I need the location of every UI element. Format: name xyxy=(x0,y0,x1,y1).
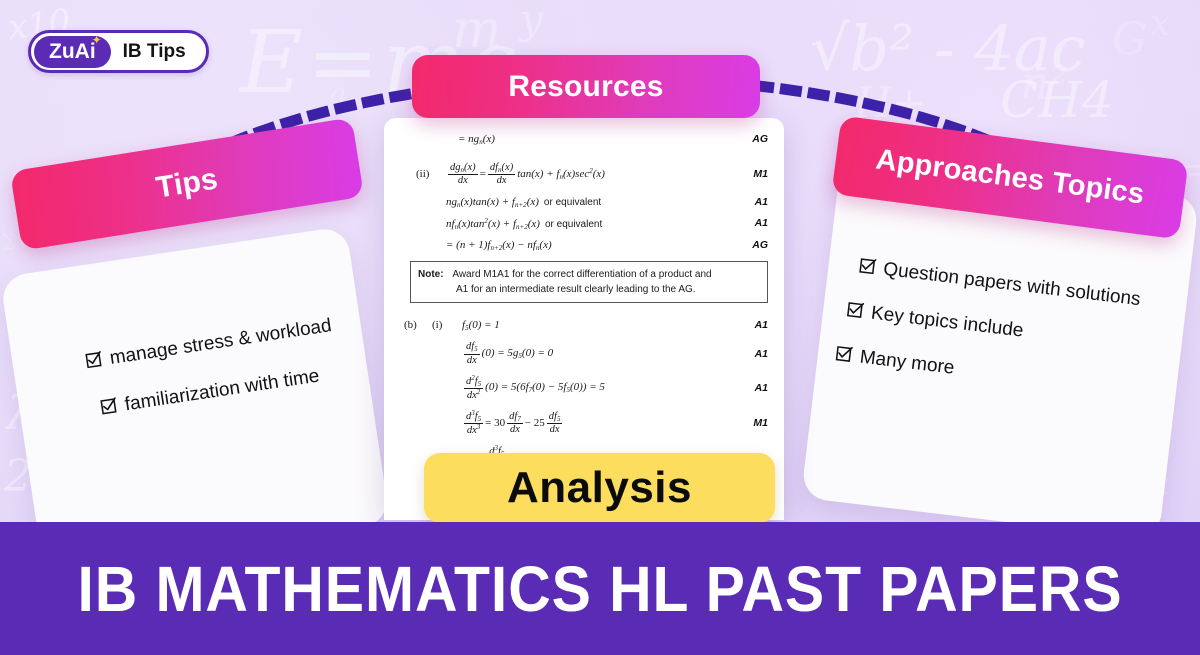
markscheme-mark: AG xyxy=(752,239,768,251)
list-item: Many more xyxy=(834,344,956,380)
markscheme-mark: A1 xyxy=(755,382,768,394)
markscheme-mark: M1 xyxy=(753,417,768,429)
resources-banner-label: Resources xyxy=(508,70,663,104)
checkbox-checked-icon xyxy=(834,345,853,364)
brand-pill-label: ZuAi xyxy=(49,40,96,63)
markscheme-line: (b) (i) f5(0) = 1 A1 xyxy=(404,319,770,332)
brand-suffix-label: IB Tips xyxy=(111,41,192,63)
list-item: manage stress & workload xyxy=(84,315,333,374)
markscheme-line: (ii) dgn(x)dx = dfn(x)dx tan(x) + fn(x)s… xyxy=(416,162,770,186)
analysis-badge[interactable]: Analysis xyxy=(424,453,775,523)
markscheme-line: ngn(x)tan(x) + fn+2(x) or equivalent A1 xyxy=(446,196,770,209)
markscheme-mark: A1 xyxy=(755,217,768,229)
markscheme-line: nfn(x)tan2(x) + fn+2(x) or equivalent A1 xyxy=(446,217,770,231)
markscheme-line: d3f5dx3 = 30 df7dx − 25 df5dx M1 xyxy=(462,410,770,436)
list-item-label: manage stress & workload xyxy=(108,315,333,370)
analysis-badge-label: Analysis xyxy=(507,463,692,513)
note-label: Note: xyxy=(418,269,444,280)
markscheme-mark: A1 xyxy=(755,348,768,360)
markscheme-line: df5dx (0) = 5g5(0) = 0 A1 xyxy=(462,341,770,365)
markscheme-line: = ngn(x) AG xyxy=(458,133,770,146)
list-item-label: Many more xyxy=(859,347,956,380)
brand-logo[interactable]: ZuAi ✦ IB Tips xyxy=(28,30,209,73)
markscheme-mark: A1 xyxy=(755,319,768,331)
markscheme-line: d2f5dx2 (0) = 5(6f7(0) − 5f5(0)) = 5 A1 xyxy=(462,375,770,401)
checkbox-checked-icon xyxy=(845,301,864,320)
list-item-label: Key topics include xyxy=(870,303,1025,343)
approaches-banner-label: Approaches Topics xyxy=(874,143,1146,211)
footer-title: IB MATHEMATICS HL PAST PAPERS xyxy=(77,552,1122,626)
tips-banner-label: Tips xyxy=(154,162,220,205)
sparkle-icon: ✦ xyxy=(92,34,102,46)
list-item: Key topics include xyxy=(845,300,1025,343)
checkbox-checked-icon xyxy=(99,397,118,416)
markscheme-line: = (n + 1)fn+2(x) − nfn(x) AG xyxy=(446,239,770,252)
markscheme-mark: AG xyxy=(752,133,768,145)
brand-pill: ZuAi ✦ xyxy=(34,36,111,68)
part-roman: (i) xyxy=(432,319,462,331)
list-item: familiarization with time xyxy=(99,365,321,419)
footer-bar: IB MATHEMATICS HL PAST PAPERS xyxy=(0,522,1200,655)
resources-banner[interactable]: Resources xyxy=(412,55,760,118)
markscheme-mark: A1 xyxy=(755,196,768,208)
part-label: (b) xyxy=(404,319,432,331)
markscheme-mark: M1 xyxy=(753,168,768,180)
note-text: A1 for an intermediate result clearly le… xyxy=(456,284,696,295)
list-item: Question papers with solutions xyxy=(857,256,1141,311)
note-text: Award M1A1 for the correct differentiati… xyxy=(452,269,711,280)
markscheme-note: Note: Award M1A1 for the correct differe… xyxy=(410,261,768,303)
checkbox-checked-icon xyxy=(858,257,877,276)
list-item-label: Question papers with solutions xyxy=(882,259,1142,311)
list-item-label: familiarization with time xyxy=(123,365,321,416)
checkbox-checked-icon xyxy=(84,350,103,369)
poster-canvas: x10 E=mc m y √b² - 4ac CH4 H+ G x F = k … xyxy=(0,0,1200,655)
